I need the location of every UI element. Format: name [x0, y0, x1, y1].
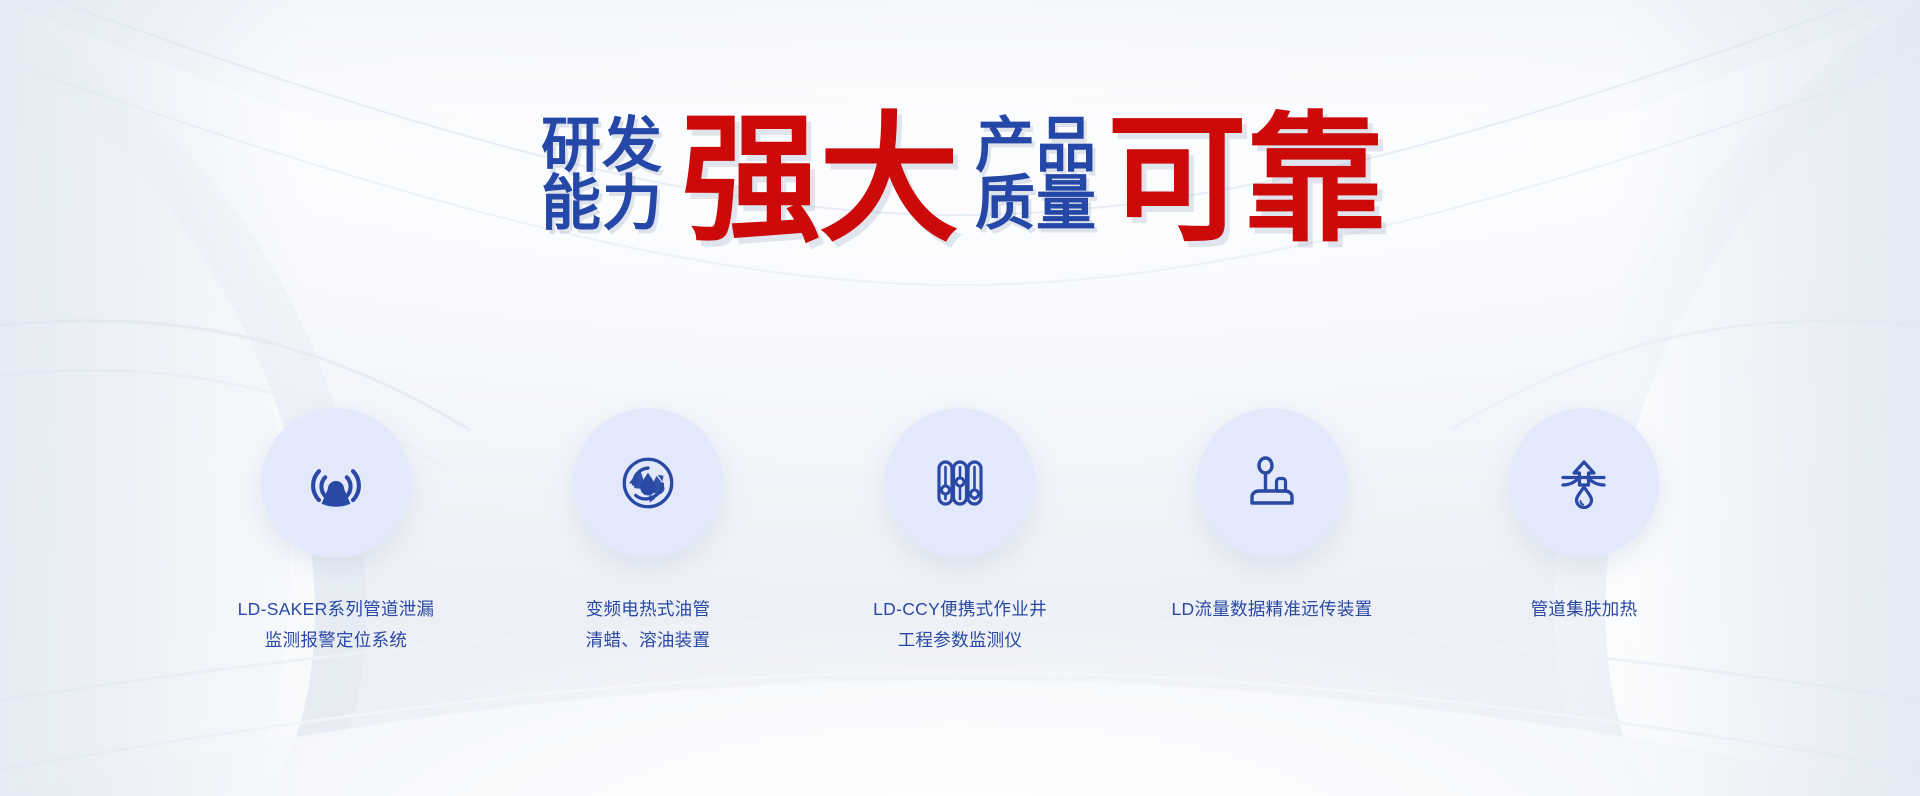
headline-part-rd-capability: 研发 能力 — [541, 118, 663, 239]
headline-product-line1: 产品 — [975, 118, 1097, 176]
feature-card-row: LD-SAKER系列管道泄漏 监测报警定位系统 — [0, 408, 1920, 655]
feature-card[interactable]: LD-SAKER系列管道泄漏 监测报警定位系统 — [205, 408, 467, 655]
feature-caption: 管道集肤加热 — [1531, 594, 1638, 625]
water-drop-recycle-icon — [615, 450, 681, 516]
antenna-transmitter-icon — [1240, 451, 1304, 515]
icon-circle — [885, 408, 1035, 558]
icon-circle — [1197, 408, 1347, 558]
icon-circle — [261, 408, 411, 558]
up-arrow-heating-drop-icon — [1552, 451, 1616, 515]
headline-strong: 强大 — [681, 122, 957, 240]
feature-caption: LD-CCY便携式作业井 工程参数监测仪 — [873, 594, 1047, 655]
headline-reliable: 可靠 — [1107, 122, 1383, 240]
headline: 研发 能力 强大 产品 质量 可靠 — [0, 118, 1920, 239]
feature-caption: LD流量数据精准远传装置 — [1172, 594, 1373, 625]
headline-rd-line1: 研发 — [541, 118, 663, 176]
feature-caption: LD-SAKER系列管道泄漏 监测报警定位系统 — [238, 594, 435, 655]
feature-card[interactable]: 管道集肤加热 — [1453, 408, 1715, 625]
headline-part-product-quality: 产品 质量 — [975, 118, 1097, 239]
feature-card[interactable]: LD流量数据精准远传装置 — [1141, 408, 1403, 625]
icon-circle — [573, 408, 723, 558]
icon-circle — [1509, 408, 1659, 558]
headline-product-line2: 质量 — [975, 176, 1097, 234]
headline-rd-line2: 能力 — [541, 176, 663, 234]
banner-stage: 研发 能力 强大 产品 质量 可靠 — [0, 0, 1920, 796]
feature-caption: 变频电热式油管 清蜡、溶油装置 — [586, 594, 711, 655]
pipeline-leak-signal-icon — [303, 450, 369, 516]
feature-card[interactable]: LD-CCY便携式作业井 工程参数监测仪 — [829, 408, 1091, 655]
three-vertical-sliders-icon — [928, 451, 992, 515]
feature-card[interactable]: 变频电热式油管 清蜡、溶油装置 — [517, 408, 779, 655]
